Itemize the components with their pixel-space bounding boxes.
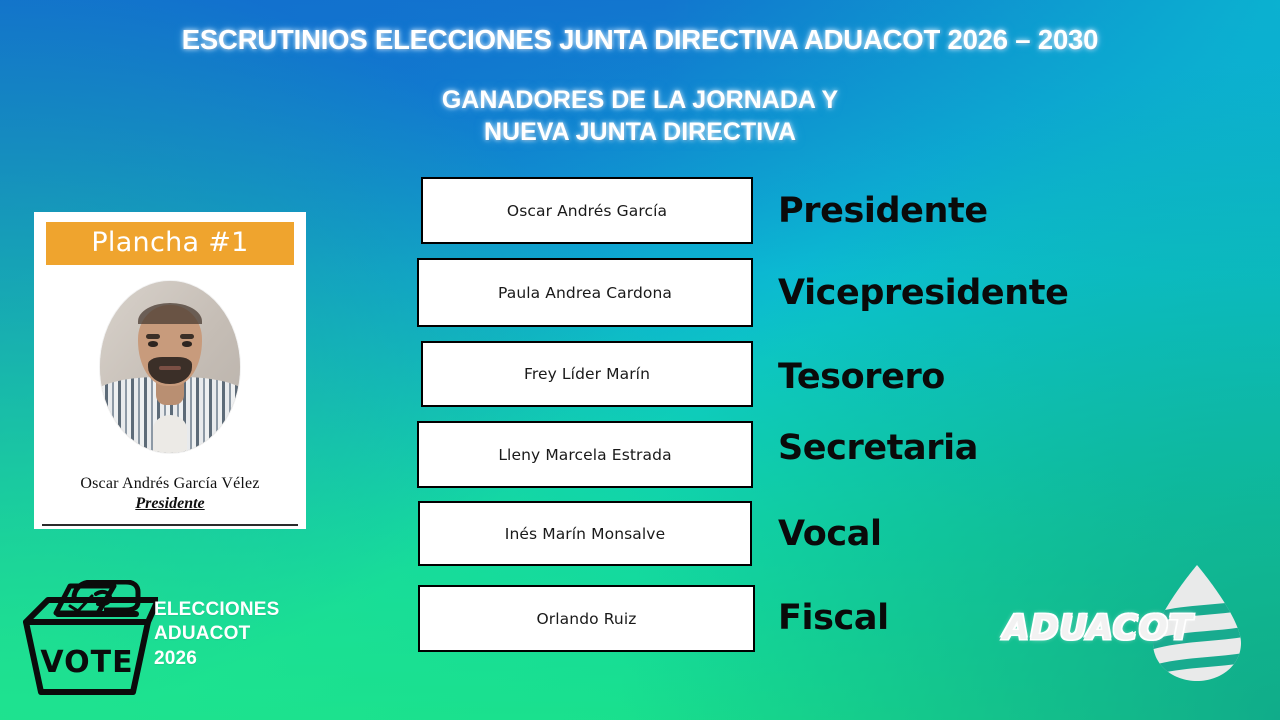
- portrait-eyebrow-right: [180, 334, 194, 339]
- vote-badge-line-3: 2026: [154, 647, 280, 671]
- slide-title: ESCRUTINIOS ELECCIONES JUNTA DIRECTIVA A…: [0, 24, 1280, 56]
- name-box: Orlando Ruiz: [418, 585, 755, 652]
- candidate-portrait-photo: [100, 281, 240, 453]
- candidate-card-name: Oscar Andrés García Vélez: [46, 475, 294, 493]
- slide-subtitle: GANADORES DE LA JORNADA Y NUEVA JUNTA DI…: [0, 84, 1280, 148]
- name-box: Frey Líder Marín: [421, 341, 753, 407]
- aduacot-wordmark: ADUACOT: [1003, 608, 1193, 648]
- name-box: Lleny Marcela Estrada: [417, 421, 753, 488]
- name-box: Oscar Andrés García: [421, 177, 753, 244]
- vote-badge-line-2: ADUACOT: [154, 622, 280, 646]
- winner-name: Inés Marín Monsalve: [505, 525, 665, 543]
- name-box: Inés Marín Monsalve: [418, 501, 752, 566]
- ballot-box-icon: VOTE: [18, 580, 158, 700]
- role-label-secretaria: Secretaria: [778, 428, 978, 468]
- winner-name: Frey Líder Marín: [524, 365, 650, 383]
- candidate-card: Plancha #1 Oscar Andrés García Vélez Pre…: [34, 212, 306, 529]
- role-label-vicepresidente: Vicepresidente: [778, 273, 1068, 313]
- vote-badge: VOTE ELECCIONES ADUACOT 2026: [18, 580, 308, 705]
- portrait-mouth: [159, 366, 181, 369]
- aduacot-logo: ADUACOT: [1001, 559, 1266, 684]
- winner-name: Orlando Ruiz: [537, 610, 637, 628]
- portrait-eye-right: [182, 341, 192, 347]
- portrait-eye-left: [148, 341, 158, 347]
- card-bottom-rule: [42, 524, 298, 526]
- role-label-vocal: Vocal: [778, 514, 882, 554]
- portrait-undershirt: [153, 415, 187, 453]
- vote-badge-text: ELECCIONES ADUACOT 2026: [154, 598, 280, 671]
- role-label-tesorero: Tesorero: [778, 357, 945, 397]
- candidate-card-role: Presidente: [46, 495, 294, 513]
- slide-subtitle-line-1: GANADORES DE LA JORNADA Y: [0, 84, 1280, 116]
- slide-subtitle-line-2: NUEVA JUNTA DIRECTIVA: [0, 116, 1280, 148]
- role-label-fiscal: Fiscal: [778, 598, 889, 638]
- portrait-eyebrow-left: [146, 334, 160, 339]
- name-box: Paula Andrea Cardona: [417, 258, 753, 327]
- vote-box-label: VOTE: [40, 645, 133, 680]
- winner-name: Paula Andrea Cardona: [498, 284, 672, 302]
- plancha-banner-label: Plancha #1: [46, 222, 294, 265]
- vote-badge-line-1: ELECCIONES: [154, 598, 280, 622]
- presentation-slide: ESCRUTINIOS ELECCIONES JUNTA DIRECTIVA A…: [0, 0, 1280, 720]
- winner-name: Lleny Marcela Estrada: [498, 446, 671, 464]
- role-label-presidente: Presidente: [778, 191, 988, 231]
- winner-name: Oscar Andrés García: [507, 202, 667, 220]
